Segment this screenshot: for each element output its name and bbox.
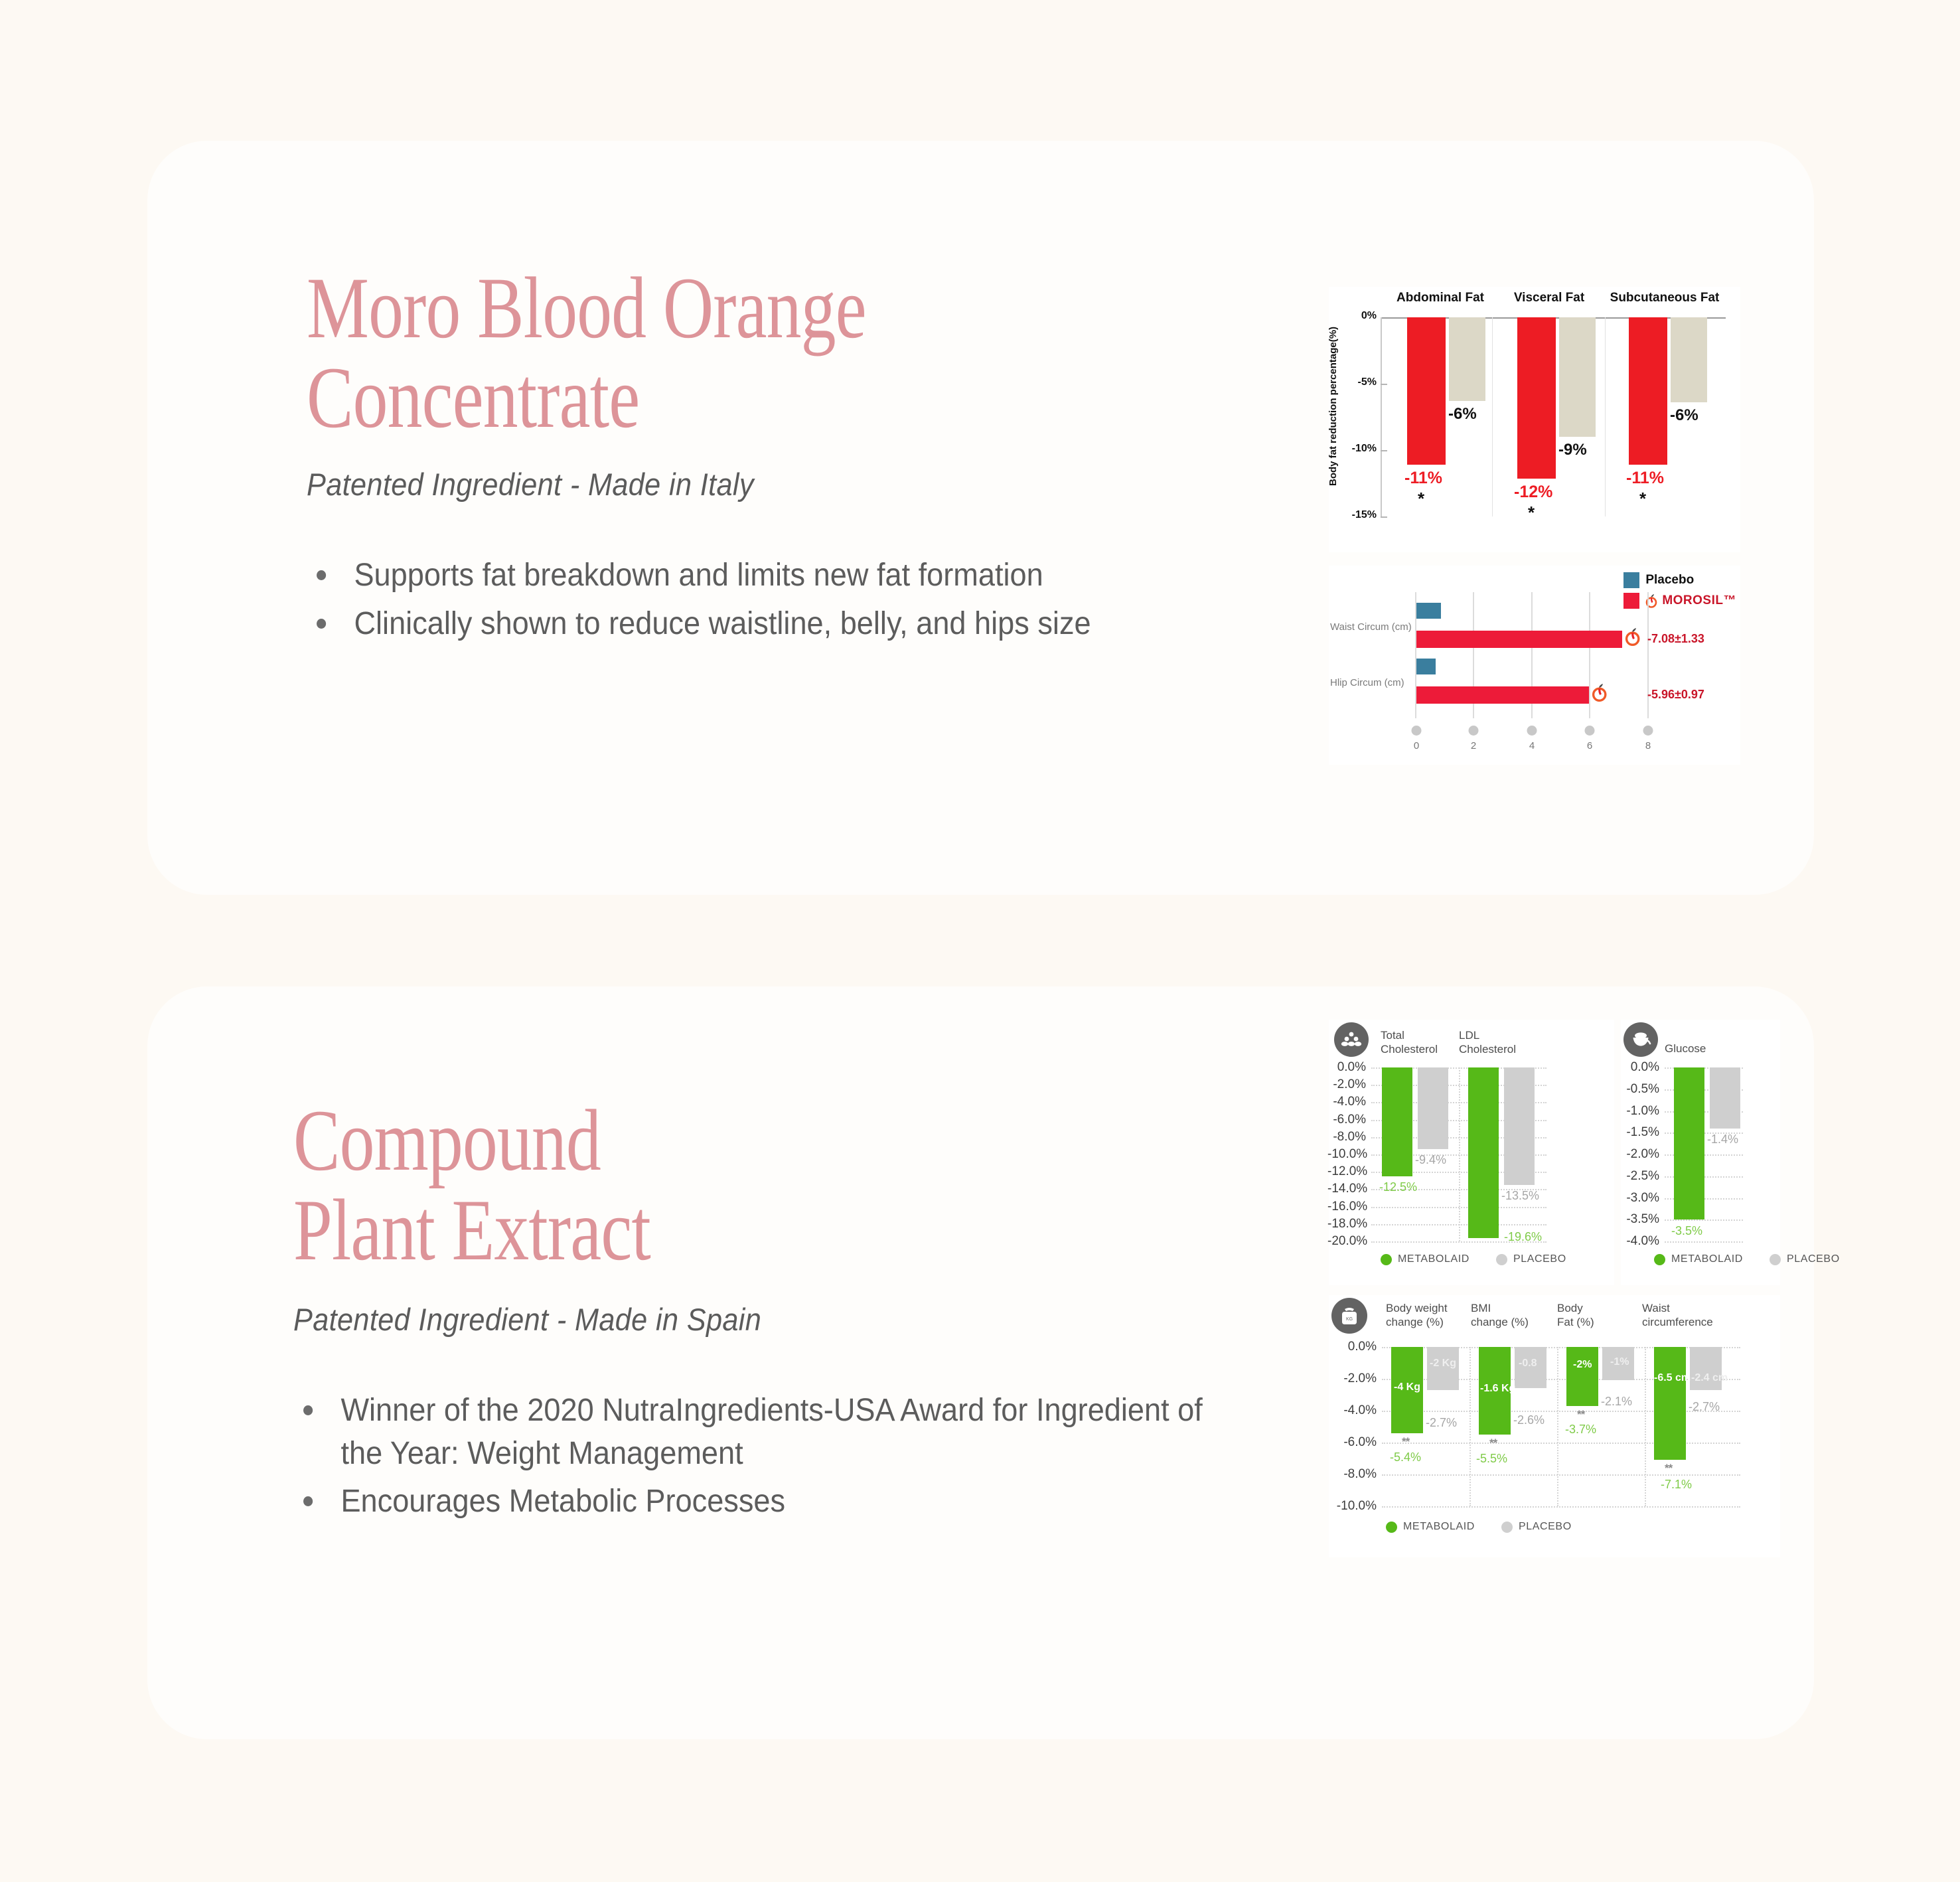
column-header-waist-circumference: Waist circumference (1642, 1302, 1713, 1329)
svg-text:KG: KG (1346, 1317, 1353, 1322)
ytick-label: -2.5% (1621, 1169, 1659, 1184)
bullet-text: Supports fat breakdown and limits new fa… (354, 558, 1043, 593)
significance-marker: ** (1402, 1435, 1409, 1449)
bar-value-hip: -5.96±0.97 (1647, 688, 1704, 702)
group-separator (1492, 317, 1493, 516)
gridline (1665, 1219, 1743, 1221)
weight-scale-icon: KG (1331, 1298, 1367, 1334)
bar-value-morosil: -11% (1626, 469, 1664, 488)
ytick-label: -2.0% (1327, 1077, 1366, 1092)
chart-legend-body-composition: METABOLAID PLACEBO (1386, 1521, 1572, 1533)
bullet-dot-icon (317, 570, 326, 580)
group-separator (1645, 1347, 1646, 1506)
bar-placebo-hip (1416, 659, 1436, 674)
ytick-label: -10.0% (1329, 1499, 1377, 1514)
gridline (1382, 1443, 1740, 1444)
ytick-label: -12.0% (1327, 1164, 1366, 1179)
legend-label: METABOLAID (1671, 1253, 1743, 1265)
significance-marker: * (1528, 503, 1535, 523)
chart-body-fat-reduction: Body fat reduction percentage(%) 0% -5% … (1329, 287, 1740, 552)
legend-label: MOROSIL™ (1662, 593, 1736, 608)
group-title: Visceral Fat (1514, 291, 1584, 305)
bar-metabolaid-ldl (1468, 1067, 1499, 1238)
bar-inside-label-metabolaid: -6.5 cm (1654, 1372, 1691, 1384)
significance-marker: ** (1577, 1408, 1584, 1421)
bar-inside-label-metabolaid: -4 Kg (1394, 1381, 1420, 1393)
xtick-label: 4 (1529, 740, 1535, 751)
chart-glucose: Glucose 0.0% -0.5% -1.0% (1621, 1020, 1780, 1285)
axis-dot-icon (1585, 726, 1595, 736)
title-line-2: Concentrate (307, 353, 1252, 443)
legend-dot-icon (1496, 1254, 1507, 1265)
axis-dot-icon (1412, 726, 1422, 736)
category-label-waist: Waist Circum (cm) (1330, 621, 1410, 633)
ytick-label: -8.0% (1327, 1130, 1366, 1144)
legend-label: Placebo (1645, 573, 1694, 588)
ytick-label: -16.0% (1327, 1200, 1366, 1214)
morosil-fruit-icon (1592, 682, 1609, 702)
bullet-text: Clinically shown to reduce waistline, be… (354, 606, 1091, 641)
bar-value-waist: -7.08±1.33 (1647, 632, 1704, 646)
legend-label: METABOLAID (1403, 1521, 1475, 1533)
ytick-label: -0.5% (1621, 1082, 1659, 1097)
bar-metabolaid-body-fat (1566, 1347, 1598, 1406)
bar-group-abdominal-fat: Abdominal Fat -6% -11% * (1385, 317, 1492, 516)
xtick-label: 0 (1414, 740, 1419, 751)
gridline (1665, 1241, 1743, 1243)
title-line-2: Plant Extract (293, 1186, 1239, 1275)
bar-value-placebo: -1.4% (1707, 1133, 1738, 1146)
chart-cholesterol: Total Cholesterol LDL Cholesterol (1329, 1020, 1614, 1285)
bar-placebo (1449, 317, 1485, 401)
axis-dot-icon (1527, 726, 1537, 736)
bar-morosil (1517, 317, 1556, 479)
bar-metabolaid-waist (1654, 1347, 1686, 1460)
bar-placebo-glucose (1710, 1067, 1740, 1129)
bullet-dot-icon (303, 1496, 313, 1506)
gridline (1382, 1506, 1740, 1508)
ytick-label: -4.0% (1621, 1234, 1659, 1249)
bar-group-subcutaneous-fat: Subcutaneous Fat -6% -11% * (1610, 317, 1723, 516)
column-header-body-weight: Body weight change (%) (1386, 1302, 1448, 1329)
bar-inside-label-placebo: -2.4 cm (1691, 1372, 1728, 1384)
bullet-text: Winner of the 2020 NutraIngredients-USA … (340, 1393, 1202, 1470)
bar-value-morosil: -11% (1404, 469, 1442, 488)
chart-ylabel: Body fat reduction percentage(%) (1327, 313, 1339, 486)
significance-marker: * (1639, 489, 1646, 509)
chart-plot-area: 0.0% -2.0% -4.0% -6.0% -8.0% -10.0% -4 K… (1382, 1347, 1740, 1506)
card-moro-blood-orange: Moro Blood Orange Concentrate Patented I… (147, 141, 1814, 895)
morosil-fruit-icon (1625, 627, 1642, 647)
subtitle-moro: Patented Ingredient - Made in Italy (307, 466, 1173, 503)
bar-placebo (1671, 317, 1707, 402)
chart-plot-area: 0.0% -2.0% -4.0% -6.0% -8.0% -10.0% -12.… (1371, 1067, 1546, 1241)
bar-group-visceral-fat: Visceral Fat -9% -12% * (1497, 317, 1605, 516)
chart-circumference-change: Placebo MOROSIL™ (1329, 566, 1740, 765)
ytick-label: -6.0% (1327, 1113, 1366, 1127)
group-separator (1470, 1347, 1471, 1506)
bar-inside-label-placebo: -2 Kg (1430, 1358, 1456, 1370)
column-header-body-fat: Body Fat (%) (1557, 1302, 1594, 1329)
bar-value-metabolaid: -19.6% (1504, 1230, 1542, 1244)
bar-value-metabolaid: -7.1% (1661, 1478, 1692, 1492)
card-compound-plant-extract: Compound Plant Extract Patented Ingredie… (147, 986, 1814, 1739)
title-line-1: Moro Blood Orange (307, 264, 1252, 353)
gridline (1382, 1411, 1740, 1412)
page-title-compound: Compound Plant Extract (293, 1096, 1239, 1275)
legend-label: PLACEBO (1787, 1253, 1840, 1265)
bar-value-placebo: -2.6% (1513, 1413, 1545, 1427)
bar-value-metabolaid: -5.5% (1476, 1452, 1507, 1466)
ytick-label: -1.5% (1621, 1125, 1659, 1140)
chart-y-axis (1381, 317, 1382, 516)
xtick-label: 6 (1587, 740, 1592, 751)
list-item: Supports fat breakdown and limits new fa… (307, 554, 1193, 597)
bar-value-metabolaid: -12.5% (1379, 1180, 1417, 1194)
ytick-label: 0.0% (1331, 1340, 1377, 1354)
compound-text-column: Compound Plant Extract Patented Ingredie… (293, 1096, 1276, 1528)
category-label-hip: Hlip Circum (cm) (1330, 677, 1410, 688)
ytick-label: -3.0% (1621, 1191, 1659, 1206)
group-title: Subcutaneous Fat (1610, 291, 1720, 305)
bar-morosil-waist (1416, 631, 1622, 648)
bar-inside-label-placebo: -0.8 (1519, 1358, 1537, 1370)
group-title: Abdominal Fat (1396, 291, 1484, 305)
ytick-label: -10.0% (1327, 1147, 1366, 1162)
bullet-list-compound: Winner of the 2020 NutraIngredients-USA … (293, 1389, 1276, 1523)
bar-value-morosil: -12% (1514, 483, 1552, 502)
ytick-label: -15% (1342, 509, 1377, 521)
bar-metabolaid-glucose (1674, 1067, 1704, 1219)
bar-value-placebo: -2.7% (1689, 1400, 1720, 1414)
list-item: Clinically shown to reduce waistline, be… (307, 603, 1193, 645)
column-header-total-cholesterol: Total Cholesterol (1381, 1029, 1438, 1056)
ytick-label: -14.0% (1327, 1182, 1366, 1196)
legend-swatch-icon (1623, 572, 1639, 588)
bar-placebo-waist (1416, 603, 1441, 619)
page-title-moro: Moro Blood Orange Concentrate (307, 264, 1252, 442)
significance-marker: ** (1665, 1462, 1672, 1475)
chart-legend-glucose: METABOLAID PLACEBO (1654, 1253, 1840, 1265)
gridline (1382, 1474, 1740, 1476)
bar-morosil (1629, 317, 1667, 465)
bullet-list-moro: Supports fat breakdown and limits new fa… (307, 554, 1249, 645)
bar-value-placebo: -13.5% (1501, 1189, 1539, 1203)
ytick-label: 0.0% (1621, 1060, 1659, 1075)
bar-inside-label-metabolaid: -1.6 Kg (1480, 1383, 1515, 1395)
legend-dot-icon (1654, 1254, 1665, 1265)
ytick-label: -6.0% (1331, 1435, 1377, 1450)
xtick-label: 8 (1645, 740, 1651, 751)
group-separator (1459, 1067, 1460, 1241)
legend-dot-icon (1381, 1254, 1392, 1265)
compound-charts-column: Total Cholesterol LDL Cholesterol (1329, 1020, 1780, 1717)
significance-marker: ** (1489, 1437, 1497, 1450)
ytick-label: -5% (1342, 376, 1377, 388)
bar-value-placebo: -2.1% (1601, 1395, 1632, 1409)
gridline (1589, 592, 1590, 718)
chart-plot-area: Waist Circum (cm) Hlip Circum (cm) -7.08… (1415, 592, 1647, 718)
bar-value-placebo: -6% (1670, 406, 1698, 425)
slide-page: Moro Blood Orange Concentrate Patented I… (0, 0, 1960, 1882)
chart-plot-area: 0.0% -0.5% -1.0% -1.5% -2.0% -2.5% -3.0%… (1665, 1067, 1743, 1241)
group-separator (1605, 317, 1606, 516)
ytick-label: -10% (1342, 443, 1377, 455)
legend-dot-icon (1770, 1254, 1781, 1265)
chart-legend-cholesterol: METABOLAID PLACEBO (1381, 1253, 1566, 1265)
bar-placebo-ldl (1504, 1067, 1535, 1185)
sugar-bowl-icon (1623, 1022, 1658, 1057)
bar-morosil (1407, 317, 1446, 465)
chart-plot-area: 0% -5% -10% -15% Abdominal Fat (1381, 317, 1726, 516)
ytick-label: 0.0% (1327, 1060, 1366, 1075)
subtitle-compound: Patented Ingredient - Made in Spain (293, 1301, 1197, 1338)
xtick-label: 2 (1471, 740, 1476, 751)
axis-dot-icon (1643, 726, 1653, 736)
moro-charts-column: Body fat reduction percentage(%) 0% -5% … (1329, 154, 1760, 884)
ytick-label: -2.0% (1621, 1147, 1659, 1162)
bullet-dot-icon (303, 1405, 313, 1415)
moro-text-column: Moro Blood Orange Concentrate Patented I… (307, 264, 1249, 651)
axis-dot-icon (1469, 726, 1479, 736)
ytick-label: -4.0% (1331, 1403, 1377, 1418)
bullet-dot-icon (317, 619, 326, 629)
bar-value-metabolaid: -5.4% (1390, 1451, 1421, 1464)
ytick-mark (1381, 516, 1387, 518)
list-item: Encourages Metabolic Processes (293, 1480, 1217, 1523)
title-line-1: Compound (293, 1096, 1239, 1186)
bar-value-placebo: -9% (1558, 441, 1587, 459)
bar-metabolaid-total-chol (1382, 1067, 1412, 1176)
list-item: Winner of the 2020 NutraIngredients-USA … (293, 1389, 1217, 1475)
bar-placebo (1559, 317, 1596, 437)
bar-morosil-hip (1416, 686, 1589, 704)
molecule-icon (1334, 1022, 1369, 1057)
significance-marker: * (1418, 489, 1424, 509)
legend-dot-icon (1501, 1522, 1513, 1533)
bar-value-metabolaid: -3.5% (1671, 1224, 1702, 1238)
legend-label: PLACEBO (1519, 1521, 1572, 1533)
ytick-label: -8.0% (1331, 1467, 1377, 1482)
bar-value-metabolaid: -3.7% (1565, 1423, 1596, 1437)
column-header-glucose: Glucose (1665, 1042, 1706, 1056)
ytick-label: -4.0% (1327, 1095, 1366, 1109)
legend-item-placebo: Placebo (1623, 572, 1736, 588)
column-header-bmi: BMI change (%) (1471, 1302, 1529, 1329)
bar-value-placebo: -6% (1448, 405, 1477, 424)
ytick-label: -20.0% (1327, 1234, 1366, 1249)
ytick-label: -18.0% (1327, 1217, 1366, 1231)
column-header-ldl-cholesterol: LDL Cholesterol (1459, 1029, 1516, 1056)
legend-label: METABOLAID (1398, 1253, 1470, 1265)
ytick-label: -1.0% (1621, 1104, 1659, 1119)
bar-inside-label-placebo: -1% (1610, 1356, 1629, 1368)
group-separator (1557, 1347, 1558, 1506)
legend-dot-icon (1386, 1522, 1397, 1533)
ytick-label: -3.5% (1621, 1212, 1659, 1227)
bar-placebo-total-chol (1418, 1067, 1448, 1149)
ytick-label: -2.0% (1331, 1372, 1377, 1386)
chart-body-composition: KG Body weight change (%) BMI change (%)… (1329, 1295, 1780, 1557)
ytick-label: 0% (1342, 310, 1377, 322)
bar-value-placebo: -2.7% (1426, 1416, 1457, 1430)
bar-value-placebo: -9.4% (1415, 1153, 1446, 1167)
bar-inside-label-metabolaid: -2% (1573, 1359, 1592, 1371)
legend-label: PLACEBO (1513, 1253, 1566, 1265)
bullet-text: Encourages Metabolic Processes (340, 1484, 785, 1519)
